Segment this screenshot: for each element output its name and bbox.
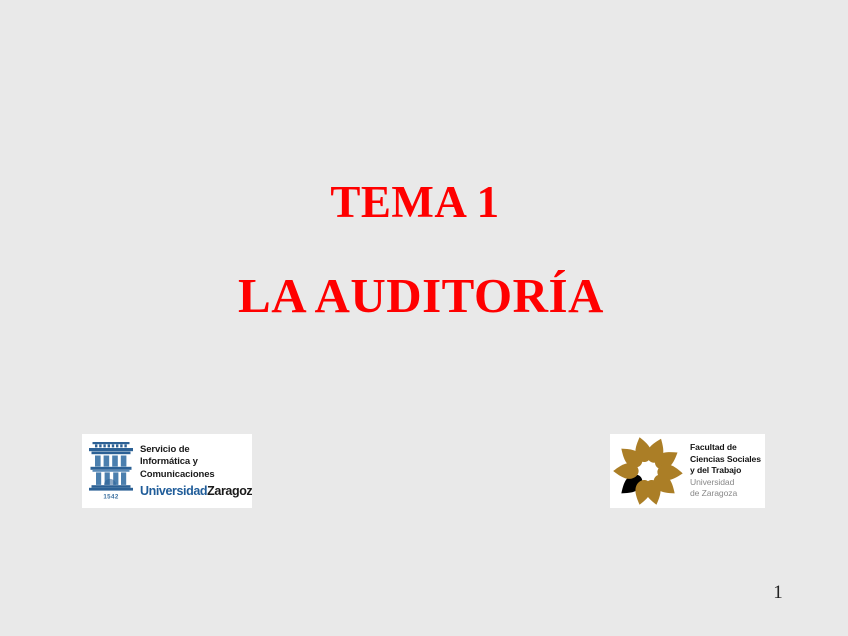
logo-line-2: Ciencias Sociales	[690, 454, 761, 466]
university-suffix: Zaragoza	[207, 484, 252, 498]
logo-facultad-text: Facultad de Ciencias Sociales y del Trab…	[690, 442, 761, 500]
logo-line-5: de Zaragoza	[690, 488, 761, 500]
logo-line-3: y del Trabajo	[690, 465, 761, 477]
logo-line-2: Informática y	[140, 456, 252, 468]
logo-servicio-informatica-text: Servicio de Informática y Comunicaciones…	[140, 444, 252, 497]
logo-line-4: Universidad	[690, 477, 761, 489]
petal-ring-icon	[611, 435, 685, 507]
university-prefix: Universidad	[140, 484, 207, 498]
logo-line-3: Comunicaciones	[140, 469, 252, 481]
slide-title-block: TEMA 1 LA AUDITORÍA	[0, 178, 848, 323]
logo-university-wordmark: UniversidadZaragoza	[140, 484, 252, 498]
classical-building-icon: 1542	[86, 440, 136, 502]
page-title: TEMA 1	[0, 178, 848, 227]
page-number: 1	[765, 582, 791, 604]
svg-text:1542: 1542	[103, 494, 119, 501]
presentation-slide: TEMA 1 LA AUDITORÍA	[0, 0, 848, 636]
page-subtitle: LA AUDITORÍA	[0, 270, 848, 323]
logo-servicio-informatica: 1542 Servicio de Informática y Comunicac…	[82, 434, 252, 508]
logo-facultad-ciencias-sociales: Facultad de Ciencias Sociales y del Trab…	[610, 434, 765, 508]
logo-line-1: Facultad de	[690, 442, 761, 454]
logo-line-1: Servicio de	[140, 444, 252, 456]
